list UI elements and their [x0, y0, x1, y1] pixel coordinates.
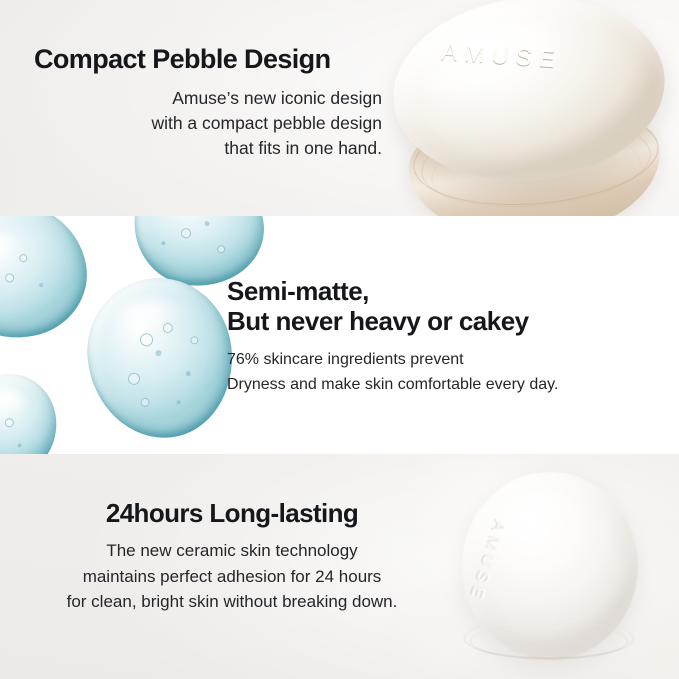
- panel-24hours-long-lasting: AMUSE 24hours Long-lasting The new ceram…: [0, 454, 679, 679]
- gel-droplet-4: [0, 364, 67, 454]
- panel-2-body-line-2: Dryness and make skin comfortable every …: [227, 373, 667, 398]
- panel-1-headline: Compact Pebble Design: [34, 44, 382, 75]
- panel-semi-matte: Semi-matte, But never heavy or cakey 76%…: [0, 216, 679, 454]
- panel-compact-pebble-design: AMUSE Compact Pebble Design Amuse’s new …: [0, 0, 679, 216]
- amuse-cushion-compact-side-blurred: AMUSE: [462, 472, 638, 660]
- panel-2-headline-line-1: Semi-matte,: [227, 276, 667, 306]
- panel-3-body-line-2: maintains perfect adhesion for 24 hours: [16, 564, 448, 590]
- panel-1-body-line-3: that fits in one hand.: [34, 136, 382, 161]
- panel-2-body-line-1: 76% skincare ingredients prevent: [227, 348, 667, 373]
- panel-3-body-line-3: for clean, bright skin without breaking …: [16, 589, 448, 615]
- amuse-cushion-compact-top-view: AMUSE: [393, 0, 679, 216]
- panel-3-text-block: 24hours Long-lasting The new ceramic ski…: [16, 498, 448, 615]
- panel-2-text-block: Semi-matte, But never heavy or cakey 76%…: [227, 276, 667, 398]
- gel-droplet-1: [0, 216, 98, 351]
- gel-droplet-3: [80, 271, 240, 445]
- panel-2-headline: Semi-matte, But never heavy or cakey: [227, 276, 667, 336]
- panel-2-headline-line-2: But never heavy or cakey: [227, 306, 667, 336]
- panel-1-body-line-2: with a compact pebble design: [34, 111, 382, 136]
- panel-1-body-line-1: Amuse’s new iconic design: [34, 86, 382, 111]
- panel-3-headline: 24hours Long-lasting: [16, 498, 448, 528]
- product-detail-image: AMUSE Compact Pebble Design Amuse’s new …: [0, 0, 679, 679]
- compact-bottom-edge-2: [470, 624, 628, 659]
- panel-3-body-line-1: The new ceramic skin technology: [16, 538, 448, 564]
- panel-2-body: 76% skincare ingredients prevent Dryness…: [227, 348, 667, 398]
- panel-1-body: Amuse’s new iconic design with a compact…: [34, 86, 382, 161]
- amuse-logo-embossed: AMUSE: [440, 39, 563, 75]
- compact-lid-highlight: [408, 0, 574, 119]
- panel-1-text-block: Compact Pebble Design Amuse’s new iconic…: [34, 44, 382, 161]
- panel-3-body: The new ceramic skin technology maintain…: [16, 538, 448, 615]
